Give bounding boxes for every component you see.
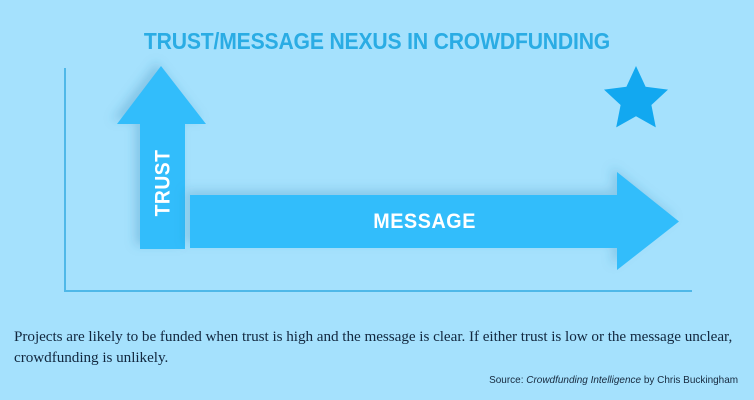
source-work-title: Crowdfunding Intelligence xyxy=(526,374,641,386)
caption-text: Projects are likely to be funded when tr… xyxy=(14,326,740,368)
source-prefix: Source: xyxy=(489,374,523,386)
infographic-canvas: TRUST/MESSAGE NEXUS IN CROWDFUNDING xyxy=(0,0,754,400)
message-arrow-shape xyxy=(190,172,679,270)
star-icon xyxy=(604,66,668,127)
source-author: by Chris Buckingham xyxy=(644,374,738,386)
source-credit: Source: Crowdfunding Intelligence by Chr… xyxy=(489,374,738,386)
